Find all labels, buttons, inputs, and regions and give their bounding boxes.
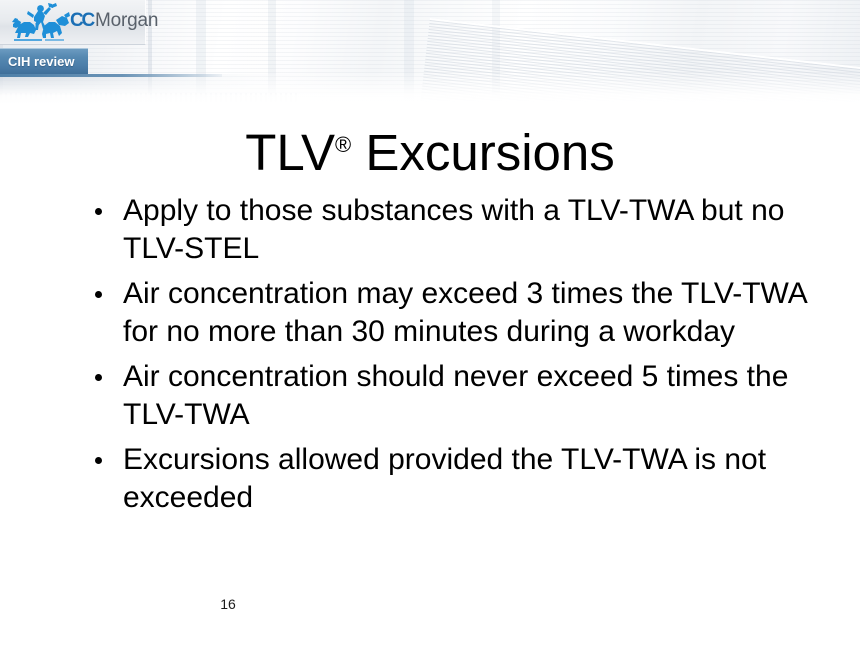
list-item-text: Air concentration may exceed 3 times the… bbox=[123, 275, 818, 351]
heraldic-crest-lion-and-rider-icon bbox=[12, 3, 70, 42]
bullet-dot-icon bbox=[95, 208, 102, 215]
page-number: 16 bbox=[0, 596, 860, 612]
list-item-text: Excursions allowed provided the TLV-TWA … bbox=[123, 441, 818, 517]
slide-title-main: TLV bbox=[245, 124, 335, 181]
page-number-value: 16 bbox=[220, 596, 236, 612]
list-item: Apply to those substances with a TLV-TWA… bbox=[88, 192, 818, 268]
section-tab-underline bbox=[0, 74, 222, 77]
brand-prefix: CC bbox=[70, 10, 93, 31]
section-tab-cih-review[interactable]: CIH review bbox=[0, 48, 88, 74]
bullet-dot-icon bbox=[95, 374, 102, 381]
section-tab-label: CIH review bbox=[0, 54, 74, 69]
list-item: Excursions allowed provided the TLV-TWA … bbox=[88, 441, 818, 517]
list-item: Air concentration may exceed 3 times the… bbox=[88, 275, 818, 351]
bullet-dot-icon bbox=[95, 291, 102, 298]
header-banner: CCMorgan CIH review bbox=[0, 0, 860, 104]
brand-wordmark: CCMorgan bbox=[70, 10, 158, 32]
list-item: Air concentration should never exceed 5 … bbox=[88, 358, 818, 434]
brand-logo-plate: CCMorgan bbox=[0, 0, 146, 45]
bullet-list: Apply to those substances with a TLV-TWA… bbox=[88, 192, 818, 517]
list-item-text: Apply to those substances with a TLV-TWA… bbox=[123, 192, 818, 268]
slide-title-suffix: Excursions bbox=[351, 124, 615, 181]
brand-name: Morgan bbox=[95, 10, 158, 31]
registered-trademark-icon: ® bbox=[335, 132, 351, 157]
presentation-slide: CCMorgan CIH review TLV® Excursions Appl… bbox=[0, 0, 860, 650]
bullet-dot-icon bbox=[95, 457, 102, 464]
slide-title: TLV® Excursions bbox=[0, 122, 860, 184]
list-item-text: Air concentration should never exceed 5 … bbox=[123, 358, 818, 434]
